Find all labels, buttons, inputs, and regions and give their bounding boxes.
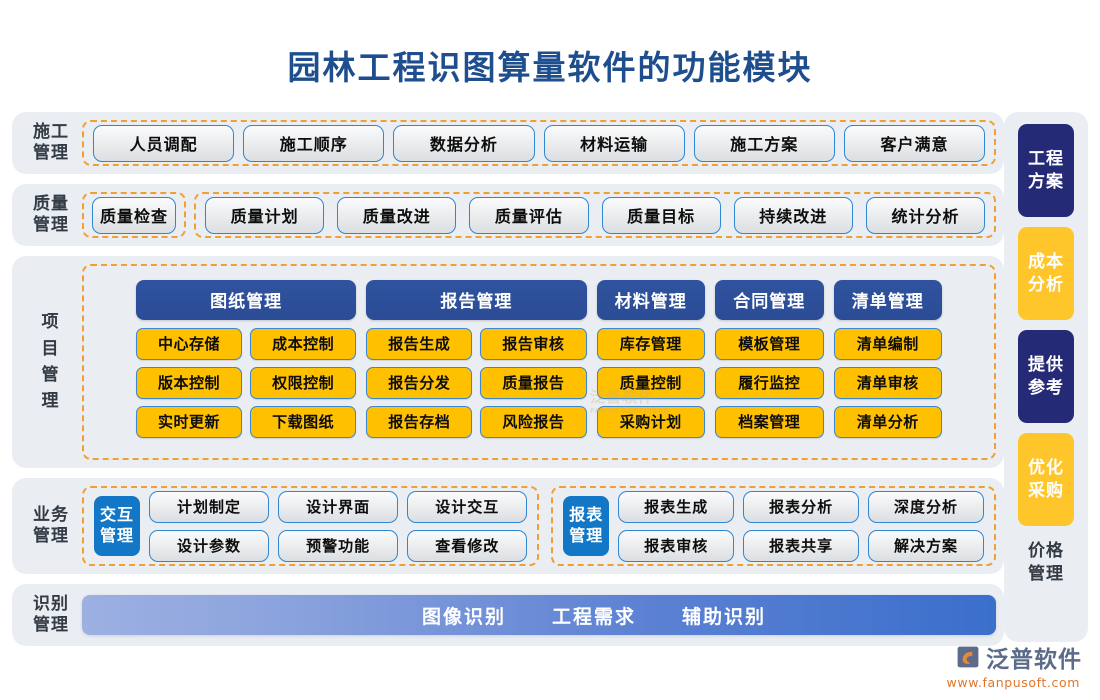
right-sidebar: 工程 方案 成本 分析 提供 参考 优化 采购 价格 管理 <box>1004 112 1088 642</box>
project-item[interactable]: 模板管理 <box>715 328 824 360</box>
project-item[interactable]: 报告存档 <box>366 406 472 438</box>
interaction-column: 设计界面 预警功能 <box>278 491 398 562</box>
business-item[interactable]: 报表生成 <box>618 491 734 523</box>
project-group-header[interactable]: 材料管理 <box>597 280 706 320</box>
recognition-item[interactable]: 图像识别 <box>422 602 506 629</box>
sidebar-block-line2: 采购 <box>1028 480 1064 502</box>
sidebar-block-line1: 成本 <box>1028 251 1064 273</box>
construction-item[interactable]: 施工顺序 <box>243 125 384 162</box>
recognition-bar: 图像识别 工程需求 辅助识别 <box>82 595 996 635</box>
sidebar-block-line1: 优化 <box>1028 457 1064 479</box>
project-item[interactable]: 清单审核 <box>834 367 943 399</box>
interaction-column: 计划制定 设计参数 <box>149 491 269 562</box>
project-group-line: 报告存档 风险报告 <box>366 406 586 438</box>
main-column: 施工 管理 人员调配 施工顺序 数据分析 材料运输 施工方案 客户满意 质量 管… <box>12 112 1004 646</box>
vblock-line2: 管理 <box>569 526 603 547</box>
construction-item[interactable]: 数据分析 <box>393 125 534 162</box>
project-item[interactable]: 报告生成 <box>366 328 472 360</box>
project-item[interactable]: 报告审核 <box>480 328 586 360</box>
business-item[interactable]: 设计参数 <box>149 530 269 562</box>
project-item[interactable]: 中心存储 <box>136 328 242 360</box>
project-group-body: 清单编制 清单审核 清单分析 <box>834 328 943 438</box>
band-label-line2: 管理 <box>20 615 82 636</box>
business-item[interactable]: 深度分析 <box>868 491 984 523</box>
report-column: 报表分析 报表共享 <box>743 491 859 562</box>
business-groups-wrap: 交互 管理 计划制定 设计参数 设计界面 预警功能 设计交互 <box>82 486 996 566</box>
project-group-boq: 清单管理 清单编制 清单审核 清单分析 <box>834 280 943 438</box>
project-group-line: 清单审核 <box>834 367 943 399</box>
project-group-line: 中心存储 成本控制 <box>136 328 356 360</box>
project-group-line: 清单编制 <box>834 328 943 360</box>
band-label-business: 业务 管理 <box>20 505 82 548</box>
project-item[interactable]: 权限控制 <box>250 367 356 399</box>
project-group-line: 报告生成 报告审核 <box>366 328 586 360</box>
fanpu-logo-icon <box>955 644 981 670</box>
project-group-header[interactable]: 报告管理 <box>366 280 586 320</box>
band-label-line1: 施工 <box>20 122 82 143</box>
project-item[interactable]: 采购计划 <box>597 406 706 438</box>
quality-item[interactable]: 持续改进 <box>734 197 853 234</box>
report-column: 报表生成 报表审核 <box>618 491 734 562</box>
band-label-quality: 质量 管理 <box>20 194 82 237</box>
interaction-column: 设计交互 查看修改 <box>407 491 527 562</box>
band-label-line2: 管理 <box>20 526 82 547</box>
vblock-line1: 报表 <box>569 505 603 526</box>
business-item[interactable]: 解决方案 <box>868 530 984 562</box>
band-label-char: 管 <box>42 362 61 388</box>
project-group-line: 库存管理 <box>597 328 706 360</box>
quality-item[interactable]: 统计分析 <box>866 197 985 234</box>
construction-item[interactable]: 施工方案 <box>694 125 835 162</box>
quality-item[interactable]: 质量改进 <box>337 197 456 234</box>
sidebar-block-line2: 参考 <box>1028 377 1064 399</box>
business-item[interactable]: 报表审核 <box>618 530 734 562</box>
project-group-report: 报告管理 报告生成 报告审核 报告分发 质量报告 报告存档 <box>366 280 586 438</box>
sidebar-block-line1: 提供 <box>1028 354 1064 376</box>
project-group-line: 履行监控 <box>715 367 824 399</box>
business-item[interactable]: 设计界面 <box>278 491 398 523</box>
business-item[interactable]: 报表共享 <box>743 530 859 562</box>
quality-item[interactable]: 质量目标 <box>602 197 721 234</box>
band-label-line1: 质量 <box>20 194 82 215</box>
business-item[interactable]: 报表分析 <box>743 491 859 523</box>
project-item[interactable]: 质量控制 <box>597 367 706 399</box>
vblock-line2: 管理 <box>100 526 134 547</box>
project-item[interactable]: 版本控制 <box>136 367 242 399</box>
project-item[interactable]: 实时更新 <box>136 406 242 438</box>
sidebar-block-cost-analysis[interactable]: 成本 分析 <box>1018 227 1074 320</box>
logo-url: www.fanpusoft.com <box>947 675 1080 690</box>
sidebar-block-engineering-plan[interactable]: 工程 方案 <box>1018 124 1074 217</box>
band-label-char: 项 <box>42 309 61 335</box>
quality-item[interactable]: 质量评估 <box>469 197 588 234</box>
project-group-line: 版本控制 权限控制 <box>136 367 356 399</box>
report-management-block[interactable]: 报表 管理 <box>563 496 609 556</box>
project-group-header[interactable]: 清单管理 <box>834 280 943 320</box>
band-recognition: 识别 管理 图像识别 工程需求 辅助识别 <box>12 584 1004 646</box>
band-label-construction: 施工 管理 <box>20 122 82 165</box>
project-item[interactable]: 风险报告 <box>480 406 586 438</box>
project-item[interactable]: 清单编制 <box>834 328 943 360</box>
sidebar-block-line2: 方案 <box>1028 171 1064 193</box>
band-label-char: 目 <box>42 336 61 362</box>
project-group-contract: 合同管理 模板管理 履行监控 档案管理 <box>715 280 824 438</box>
project-item[interactable]: 成本控制 <box>250 328 356 360</box>
band-label-line2: 管理 <box>20 143 82 164</box>
recognition-item[interactable]: 辅助识别 <box>682 602 766 629</box>
sidebar-block-provide-reference[interactable]: 提供 参考 <box>1018 330 1074 423</box>
brand-logo: 泛普软件 www.fanpusoft.com <box>947 640 1082 690</box>
project-group-material: 材料管理 库存管理 质量控制 采购计划 <box>597 280 706 438</box>
band-business: 业务 管理 交互 管理 计划制定 设计参数 设计界面 <box>12 478 1004 574</box>
project-group-body: 中心存储 成本控制 版本控制 权限控制 实时更新 下载图纸 <box>136 328 356 438</box>
business-group-interaction: 交互 管理 计划制定 设计参数 设计界面 预警功能 设计交互 <box>82 486 539 566</box>
report-columns: 报表生成 报表审核 报表分析 报表共享 深度分析 解决方案 <box>618 491 984 562</box>
logo-row: 泛普软件 <box>955 640 1082 674</box>
infographic-page: 园林工程识图算量软件的功能模块 施工 管理 人员调配 施工顺序 数据分析 材料运… <box>0 0 1100 700</box>
project-group-grid: 图纸管理 中心存储 成本控制 版本控制 权限控制 实时更新 <box>94 280 984 438</box>
business-item[interactable]: 计划制定 <box>149 491 269 523</box>
project-item[interactable]: 报告分发 <box>366 367 472 399</box>
business-item[interactable]: 设计交互 <box>407 491 527 523</box>
construction-item[interactable]: 材料运输 <box>544 125 685 162</box>
sidebar-footer-label: 价格 管理 <box>1018 540 1074 586</box>
project-item[interactable]: 质量报告 <box>480 367 586 399</box>
project-item[interactable]: 下载图纸 <box>250 406 356 438</box>
project-group-body: 报告生成 报告审核 报告分发 质量报告 报告存档 风险报告 <box>366 328 586 438</box>
project-item[interactable]: 库存管理 <box>597 328 706 360</box>
project-items-group: 图纸管理 中心存储 成本控制 版本控制 权限控制 实时更新 <box>82 264 996 460</box>
sidebar-block-line2: 分析 <box>1028 274 1064 296</box>
construction-item[interactable]: 客户满意 <box>844 125 985 162</box>
project-item[interactable]: 档案管理 <box>715 406 824 438</box>
project-group-line: 实时更新 下载图纸 <box>136 406 356 438</box>
project-group-body: 库存管理 质量控制 采购计划 <box>597 328 706 438</box>
business-item[interactable]: 预警功能 <box>278 530 398 562</box>
band-quality: 质量 管理 质量检查 质量计划 质量改进 质量评估 质量目标 持续改进 统计分析 <box>12 184 1004 246</box>
logo-text: 泛普软件 <box>986 640 1082 674</box>
sidebar-footer-line1: 价格 <box>1018 540 1074 563</box>
quality-solo-group: 质量检查 <box>82 192 186 238</box>
project-group-header[interactable]: 合同管理 <box>715 280 824 320</box>
vblock-line1: 交互 <box>100 505 134 526</box>
project-group-line: 模板管理 <box>715 328 824 360</box>
business-item[interactable]: 查看修改 <box>407 530 527 562</box>
band-label-line1: 识别 <box>20 594 82 615</box>
project-group-drawing: 图纸管理 中心存储 成本控制 版本控制 权限控制 实时更新 <box>136 280 356 438</box>
project-item[interactable]: 清单分析 <box>834 406 943 438</box>
project-group-line: 档案管理 <box>715 406 824 438</box>
page-title: 园林工程识图算量软件的功能模块 <box>0 48 1100 88</box>
project-group-line: 报告分发 质量报告 <box>366 367 586 399</box>
report-column: 深度分析 解决方案 <box>868 491 984 562</box>
quality-items-group: 质量计划 质量改进 质量评估 质量目标 持续改进 统计分析 <box>194 192 996 238</box>
band-label-line2: 管理 <box>20 215 82 236</box>
quality-item-inspection[interactable]: 质量检查 <box>92 197 176 234</box>
recognition-item[interactable]: 工程需求 <box>552 602 636 629</box>
sidebar-footer-line2: 管理 <box>1018 563 1074 586</box>
band-label-line1: 业务 <box>20 505 82 526</box>
band-construction: 施工 管理 人员调配 施工顺序 数据分析 材料运输 施工方案 客户满意 <box>12 112 1004 174</box>
project-group-body: 模板管理 履行监控 档案管理 <box>715 328 824 438</box>
band-project: 项 目 管 理 图纸管理 中心存储 成本控制 <box>12 256 1004 468</box>
project-group-line: 采购计划 <box>597 406 706 438</box>
business-group-report: 报表 管理 报表生成 报表审核 报表分析 报表共享 深度分析 <box>551 486 996 566</box>
construction-item[interactable]: 人员调配 <box>93 125 234 162</box>
sidebar-block-optimize-procurement[interactable]: 优化 采购 <box>1018 433 1074 526</box>
band-label-recognition: 识别 管理 <box>20 594 82 637</box>
project-group-line: 清单分析 <box>834 406 943 438</box>
project-group-line: 质量控制 <box>597 367 706 399</box>
sidebar-block-line1: 工程 <box>1028 148 1064 170</box>
interaction-columns: 计划制定 设计参数 设计界面 预警功能 设计交互 查看修改 <box>149 491 527 562</box>
project-group-header[interactable]: 图纸管理 <box>136 280 356 320</box>
project-item[interactable]: 履行监控 <box>715 367 824 399</box>
quality-item[interactable]: 质量计划 <box>205 197 324 234</box>
band-label-char: 理 <box>42 388 61 414</box>
band-label-project: 项 目 管 理 <box>20 256 82 468</box>
construction-items-group: 人员调配 施工顺序 数据分析 材料运输 施工方案 客户满意 <box>82 120 996 166</box>
quality-groups-wrap: 质量检查 质量计划 质量改进 质量评估 质量目标 持续改进 统计分析 <box>82 192 996 238</box>
interaction-management-block[interactable]: 交互 管理 <box>94 496 140 556</box>
